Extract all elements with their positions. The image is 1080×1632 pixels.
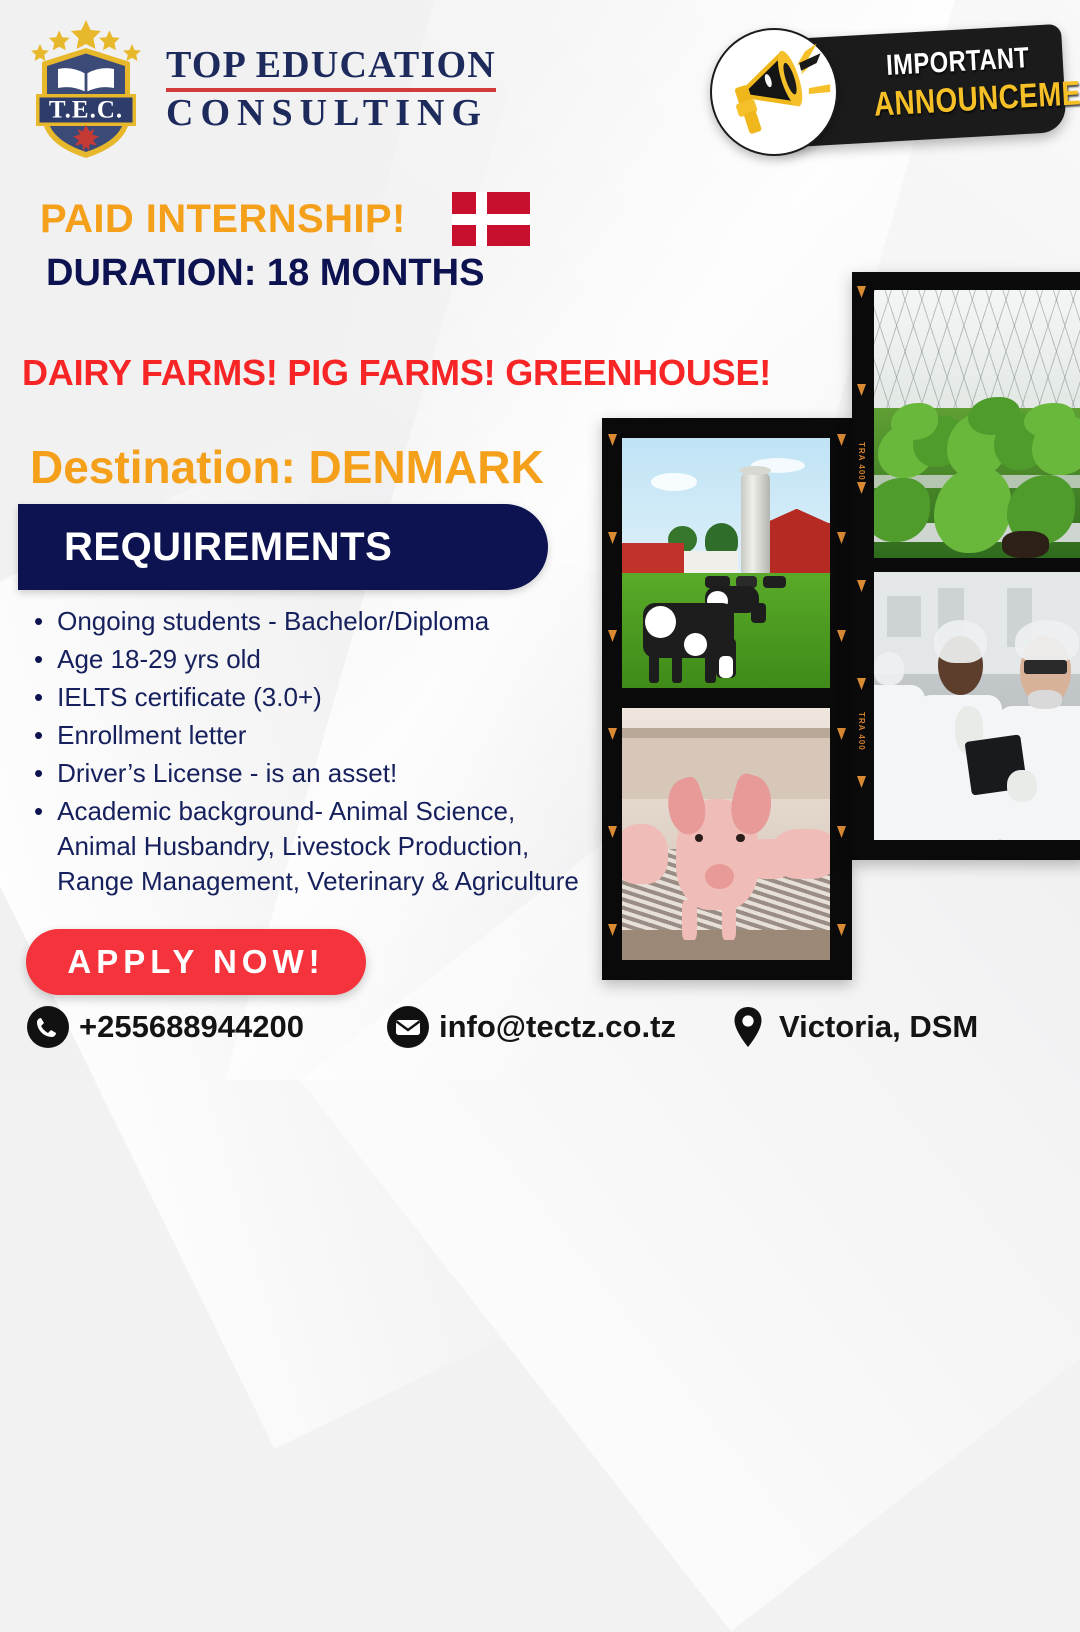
contact-phone[interactable]: +255688944200 <box>26 1005 386 1049</box>
email-address: info@tectz.co.tz <box>439 1009 676 1045</box>
requirement-text: Ongoing students - Bachelor/Diploma <box>57 604 489 639</box>
brand-name-line1: TOP EDUCATION <box>166 46 496 84</box>
paid-internship-line: PAID INTERNSHIP! <box>40 192 530 246</box>
dairy-farm-photo <box>622 438 830 688</box>
svg-text:T.E.C.: T.E.C. <box>49 97 123 124</box>
brand-wordmark: TOP EDUCATION CONSULTING <box>166 46 496 132</box>
requirements-list: • Ongoing students - Bachelor/Diploma • … <box>34 604 594 902</box>
list-item: • Academic background- Animal Science, A… <box>34 794 594 899</box>
envelope-icon <box>386 1005 430 1049</box>
apply-now-label: APPLY NOW! <box>67 943 324 981</box>
paid-internship-text: PAID INTERNSHIP! <box>40 197 406 242</box>
list-item: • Ongoing students - Bachelor/Diploma <box>34 604 594 639</box>
destination-text: Destination: DENMARK <box>30 440 544 494</box>
location-text: Victoria, DSM <box>779 1009 978 1045</box>
film-strip-left: TRA 400 TRA 400 <box>602 418 852 980</box>
brand-name-line2: CONSULTING <box>166 94 496 132</box>
important-announcement-badge: IMPORTANT ANNOUNCEMENT <box>704 22 1064 154</box>
requirement-text: Enrollment letter <box>57 718 246 753</box>
megaphone-icon <box>710 28 838 156</box>
pig-farm-photo <box>622 708 830 960</box>
bullet-icon: • <box>34 794 43 829</box>
bullet-icon: • <box>34 642 43 677</box>
requirement-text: Driver’s License - is an asset! <box>57 756 397 791</box>
requirement-text: Age 18-29 yrs old <box>57 642 261 677</box>
film-label: TRA 400 <box>857 442 866 481</box>
location-pin-icon <box>726 1005 770 1049</box>
film-strip-right: TRA 400 TRA 400 <box>852 272 1080 860</box>
requirements-heading: REQUIREMENTS <box>64 525 392 570</box>
denmark-flag-icon <box>452 192 530 246</box>
requirement-text: Academic background- Animal Science, Ani… <box>57 794 594 899</box>
bullet-icon: • <box>34 604 43 639</box>
phone-icon <box>26 1005 70 1049</box>
brand-logo-block: T.E.C. TOP EDUCATION CONSULTING <box>22 18 496 160</box>
list-item: • Enrollment letter <box>34 718 594 753</box>
tec-shield-logo-icon: T.E.C. <box>22 18 150 160</box>
food-processing-photo <box>874 572 1080 840</box>
duration-text: DURATION: 18 MONTHS <box>46 252 484 295</box>
list-item: • Driver’s License - is an asset! <box>34 756 594 791</box>
requirements-banner: REQUIREMENTS <box>18 504 548 590</box>
bullet-icon: • <box>34 680 43 715</box>
contact-location: Victoria, DSM <box>726 1005 978 1049</box>
film-label: TRA 400 <box>857 712 866 751</box>
apply-now-button[interactable]: APPLY NOW! <box>26 929 366 995</box>
requirement-text: IELTS certificate (3.0+) <box>57 680 322 715</box>
contact-bar: +255688944200 info@tectz.co.tz Victoria,… <box>26 1005 1066 1049</box>
bullet-icon: • <box>34 718 43 753</box>
greenhouse-photo <box>874 290 1080 558</box>
announcement-text: IMPORTANT ANNOUNCEMENT <box>852 40 1066 126</box>
list-item: • Age 18-29 yrs old <box>34 642 594 677</box>
flag-cross-horizontal <box>452 214 530 225</box>
contact-email[interactable]: info@tectz.co.tz <box>386 1005 726 1049</box>
phone-number: +255688944200 <box>79 1009 304 1045</box>
list-item: • IELTS certificate (3.0+) <box>34 680 594 715</box>
bullet-icon: • <box>34 756 43 791</box>
farm-types-text: DAIRY FARMS! PIG FARMS! GREENHOUSE! <box>22 352 771 394</box>
